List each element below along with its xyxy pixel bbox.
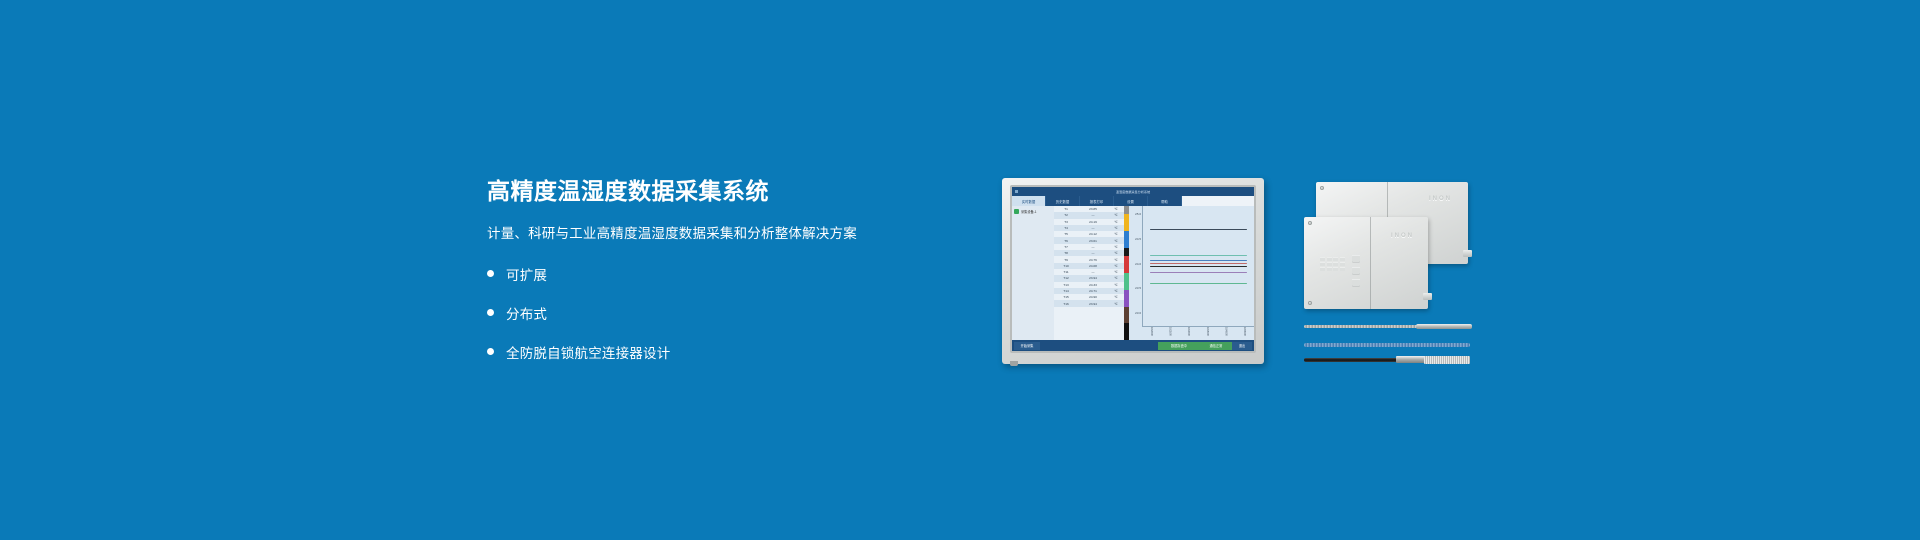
- port-icon: [1352, 255, 1360, 262]
- cell-unit: ℃: [1108, 264, 1124, 268]
- key: [1327, 262, 1332, 266]
- list-item: 分布式: [487, 303, 957, 323]
- cell-channel: T8: [1054, 251, 1078, 255]
- cell-value: 24.76: [1078, 258, 1108, 262]
- tab-report-print[interactable]: 报表打印: [1080, 196, 1114, 206]
- key: [1340, 257, 1345, 261]
- y-axis-tick-label: 24.0: [1135, 262, 1141, 266]
- connector-shell: [1396, 356, 1426, 363]
- key: [1327, 267, 1332, 271]
- tab-history-data[interactable]: 历史数据: [1046, 196, 1080, 206]
- cell-value: ---: [1078, 245, 1108, 249]
- trend-chart: 25.024.524.023.523.0 10:20:0010:25:0010:…: [1129, 206, 1254, 340]
- cell-unit: ℃: [1108, 239, 1124, 243]
- exit-button[interactable]: 退出: [1232, 342, 1252, 350]
- y-axis-tick-label: 25.0: [1135, 212, 1141, 216]
- cell-channel: T4: [1054, 226, 1078, 230]
- feature-bullet-list: 可扩展 分布式 全防脱自锁航空连接器设计: [487, 264, 957, 362]
- brand-logo-front: INON: [1391, 233, 1414, 239]
- chart-series-line: [1150, 229, 1248, 230]
- cell-channel: T1: [1054, 207, 1078, 211]
- cell-unit: ℃: [1108, 270, 1124, 274]
- screw-icon: [1308, 221, 1312, 225]
- app-body: 采集设备-1 T123.85℃T2---℃T324.19℃T4---℃T524.…: [1012, 206, 1254, 340]
- bullet-label: 分布式: [506, 303, 547, 323]
- chart-y-axis: 25.024.524.023.523.0: [1129, 206, 1142, 340]
- key: [1333, 257, 1338, 261]
- cell-value: ---: [1078, 226, 1108, 230]
- page-title: 高精度温湿度数据采集系统: [487, 178, 957, 206]
- bullet-dot-icon: [487, 348, 494, 355]
- bullet-label: 可扩展: [506, 264, 547, 284]
- device-tree-root[interactable]: 采集设备-1: [1014, 209, 1052, 214]
- port-icon: [1352, 279, 1360, 286]
- x-axis-tick-label: 10:40:00: [1224, 327, 1227, 339]
- screw-icon: [1308, 301, 1312, 305]
- channel-data-table: T123.85℃T2---℃T324.19℃T4---℃T524.12℃T623…: [1054, 206, 1124, 340]
- x-axis-tick-label: 10:25:00: [1168, 327, 1171, 339]
- app-icon: [1015, 190, 1018, 193]
- page-subtitle: 计量、科研与工业高精度温湿度数据采集和分析整体解决方案: [487, 222, 957, 242]
- device-tree-panel: 采集设备-1: [1012, 206, 1054, 340]
- cell-value: 23.61: [1078, 239, 1108, 243]
- x-axis-tick-label: 10:45:00: [1243, 327, 1246, 339]
- chart-plot-area: [1142, 206, 1254, 327]
- chart-series-line: [1150, 283, 1248, 284]
- monitor-screen: 温湿度数据采集分析系统 实时数据 历史数据 报表打印 设置 帮助 采集设备-1: [1012, 187, 1254, 351]
- list-item: 全防脱自锁航空连接器设计: [487, 342, 957, 362]
- product-banner: 高精度温湿度数据采集系统 计量、科研与工业高精度温湿度数据采集和分析整体解决方案…: [0, 0, 1920, 540]
- port-icon: [1352, 267, 1360, 274]
- keypad-etching: [1320, 257, 1345, 271]
- data-acquisition-module-front: INON: [1304, 217, 1428, 309]
- cell-channel: T15: [1054, 295, 1078, 299]
- chart-series-line: [1150, 260, 1248, 261]
- device-icon: [1014, 209, 1019, 214]
- knurled-connector-body: [1424, 356, 1470, 364]
- x-axis-tick-label: 10:35:00: [1206, 327, 1209, 339]
- cell-unit: ℃: [1108, 245, 1124, 249]
- probe-cable: [1304, 343, 1470, 347]
- cell-unit: ℃: [1108, 251, 1124, 255]
- aviation-connector: [1463, 250, 1472, 257]
- chart-x-axis: 10:20:0010:25:0010:30:0010:35:0010:40:00…: [1142, 327, 1254, 339]
- cell-unit: ℃: [1108, 276, 1124, 280]
- probe-tip: [1416, 324, 1472, 329]
- probe-cable: [1304, 358, 1400, 362]
- cell-channel: T5: [1054, 232, 1078, 236]
- app-titlebar: 温湿度数据采集分析系统: [1012, 187, 1254, 196]
- cell-value: 24.71: [1078, 289, 1108, 293]
- bullet-dot-icon: [487, 270, 494, 277]
- screw-icon: [1320, 186, 1324, 190]
- key: [1340, 267, 1345, 271]
- chart-series-line: [1150, 255, 1248, 256]
- cell-value: 24.19: [1078, 220, 1108, 224]
- bullet-label: 全防脱自锁航空连接器设计: [506, 342, 670, 362]
- list-item: 可扩展: [487, 264, 957, 284]
- cell-channel: T2: [1054, 213, 1078, 217]
- status-badge-comm: 通信正常: [1200, 342, 1232, 350]
- cell-unit: ℃: [1108, 220, 1124, 224]
- cell-value: 24.90: [1078, 295, 1108, 299]
- key: [1333, 267, 1338, 271]
- brand-logo-back: INON: [1429, 196, 1452, 202]
- monitor-bezel-inner: 温湿度数据采集分析系统 实时数据 历史数据 报表打印 设置 帮助 采集设备-1: [1010, 185, 1256, 353]
- window-title: 温湿度数据采集分析系统: [1116, 189, 1150, 194]
- cell-value: ---: [1078, 270, 1108, 274]
- cell-value: 24.12: [1078, 232, 1108, 236]
- table-row: T1623.94℃: [1054, 300, 1124, 306]
- monitor-stand: [1010, 361, 1018, 366]
- banner-text-block: 高精度温湿度数据采集系统 计量、科研与工业高精度温湿度数据采集和分析整体解决方案…: [487, 178, 957, 381]
- port-etching-group: [1352, 255, 1360, 286]
- start-acquisition-button[interactable]: 开始采集: [1014, 342, 1040, 350]
- x-axis-tick-label: 10:20:00: [1150, 327, 1153, 339]
- tab-realtime-data[interactable]: 实时数据: [1012, 196, 1046, 206]
- cell-value: 23.85: [1078, 207, 1108, 211]
- cell-channel: T11: [1054, 270, 1078, 274]
- y-axis-tick-label: 23.5: [1135, 286, 1141, 290]
- key: [1320, 267, 1325, 271]
- cell-channel: T9: [1054, 258, 1078, 262]
- cell-value: ---: [1078, 213, 1108, 217]
- industrial-panel-pc: 温湿度数据采集分析系统 实时数据 历史数据 报表打印 设置 帮助 采集设备-1: [1002, 178, 1264, 364]
- chart-series-line: [1150, 266, 1248, 267]
- cell-unit: ℃: [1108, 226, 1124, 230]
- cell-channel: T16: [1054, 302, 1078, 306]
- y-axis-tick-label: 24.5: [1135, 237, 1141, 241]
- cell-channel: T7: [1054, 245, 1078, 249]
- aviation-connector: [1423, 293, 1432, 300]
- cell-unit: ℃: [1108, 295, 1124, 299]
- key: [1320, 257, 1325, 261]
- x-axis-tick-label: 10:30:00: [1187, 327, 1190, 339]
- cell-value: 23.94: [1078, 302, 1108, 306]
- cell-unit: ℃: [1108, 283, 1124, 287]
- cell-unit: ℃: [1108, 213, 1124, 217]
- chart-series-line: [1150, 263, 1248, 264]
- cell-channel: T10: [1054, 264, 1078, 268]
- cell-channel: T12: [1054, 276, 1078, 280]
- hardware-product-group: INON INON: [1302, 170, 1492, 370]
- cell-unit: ℃: [1108, 289, 1124, 293]
- tab-help[interactable]: 帮助: [1148, 196, 1182, 206]
- cell-unit: ℃: [1108, 232, 1124, 236]
- y-axis-tick-label: 23.0: [1135, 311, 1141, 315]
- key: [1340, 262, 1345, 266]
- cell-value: 23.94: [1078, 276, 1108, 280]
- cell-channel: T13: [1054, 283, 1078, 287]
- probe-cable: [1304, 325, 1422, 328]
- chart-series-line: [1150, 272, 1248, 273]
- device-tree-label: 采集设备-1: [1021, 209, 1037, 214]
- cell-value: ---: [1078, 251, 1108, 255]
- cell-channel: T6: [1054, 239, 1078, 243]
- tab-bar: 实时数据 历史数据 报表打印 设置 帮助: [1012, 196, 1254, 206]
- cell-channel: T3: [1054, 220, 1078, 224]
- status-bar: 开始采集 数据存盘中 通信正常 退出: [1012, 340, 1254, 351]
- cell-value: 24.08: [1078, 264, 1108, 268]
- cell-unit: ℃: [1108, 207, 1124, 211]
- cell-value: 24.33: [1078, 283, 1108, 287]
- tab-bar-filler: [1182, 196, 1254, 206]
- key: [1320, 262, 1325, 266]
- cell-channel: T14: [1054, 289, 1078, 293]
- key: [1327, 257, 1332, 261]
- tab-settings[interactable]: 设置: [1114, 196, 1148, 206]
- module-seam: [1370, 217, 1371, 309]
- key: [1333, 262, 1338, 266]
- cell-unit: ℃: [1108, 302, 1124, 306]
- cell-unit: ℃: [1108, 258, 1124, 262]
- bullet-dot-icon: [487, 309, 494, 316]
- status-badge-saving: 数据存盘中: [1158, 342, 1200, 350]
